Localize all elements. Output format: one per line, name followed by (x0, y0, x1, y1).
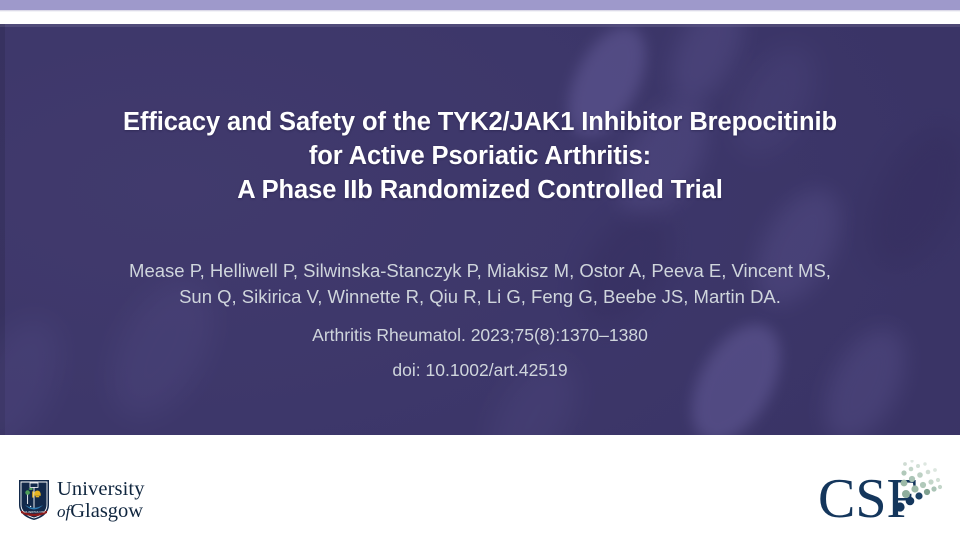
glasgow-wordmark-of: of (57, 502, 70, 521)
glasgow-wordmark-line-1: University (57, 479, 145, 500)
title-line-3: A Phase IIb Randomized Controlled Trial (50, 173, 910, 207)
csf-logo: CSF (818, 462, 950, 528)
top-accent-bar (0, 0, 960, 10)
glasgow-wordmark-glasgow: Glasgow (70, 500, 143, 522)
university-of-glasgow-wordmark: University ofGlasgow (57, 479, 145, 521)
top-accent-bar-shadow (0, 10, 960, 12)
journal-citation: Arthritis Rheumatol. 2023;75(8):1370–138… (50, 323, 910, 348)
university-of-glasgow-logo: VIA VERITAS VITA University ofGlasgow (18, 479, 145, 521)
title-line-1: Efficacy and Safety of the TYK2/JAK1 Inh… (50, 105, 910, 139)
author-list: Mease P, Helliwell P, Silwinska-Stanczyk… (50, 258, 910, 310)
title-panel: Efficacy and Safety of the TYK2/JAK1 Inh… (0, 24, 960, 435)
doi-text: doi: 10.1002/art.42519 (50, 358, 910, 383)
author-line-2: Sun Q, Sikirica V, Winnette R, Qiu R, Li… (50, 284, 910, 310)
csf-dot-fan-icon (892, 460, 950, 525)
svg-text:VIA VERITAS VITA: VIA VERITAS VITA (23, 511, 44, 514)
glasgow-wordmark-line-2: ofGlasgow (57, 501, 145, 522)
university-of-glasgow-crest-icon: VIA VERITAS VITA (18, 479, 50, 521)
title-line-2: for Active Psoriatic Arthritis: (50, 139, 910, 173)
title-slide: Efficacy and Safety of the TYK2/JAK1 Inh… (0, 0, 960, 540)
author-line-1: Mease P, Helliwell P, Silwinska-Stanczyk… (50, 258, 910, 284)
page-title: Efficacy and Safety of the TYK2/JAK1 Inh… (50, 105, 910, 207)
slide-content: Efficacy and Safety of the TYK2/JAK1 Inh… (0, 24, 960, 435)
